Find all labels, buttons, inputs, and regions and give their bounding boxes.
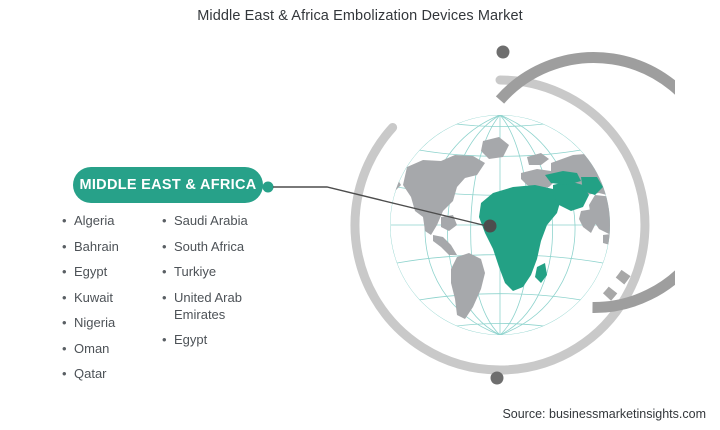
country-name: Algeria — [74, 212, 114, 229]
country-name: Egypt — [174, 331, 207, 348]
list-item: • Turkiye — [162, 263, 292, 280]
country-list: • Algeria • Bahrain • Egypt • Kuwait • N… — [62, 212, 352, 391]
list-item: • Nigeria — [62, 314, 162, 331]
bullet-icon: • — [62, 238, 74, 255]
list-item: • Egypt — [62, 263, 162, 280]
list-item: • South Africa — [162, 238, 292, 255]
list-item: • Algeria — [62, 212, 162, 229]
globe-top-marker-icon — [497, 46, 510, 59]
bullet-icon: • — [62, 289, 74, 306]
country-name: Turkiye — [174, 263, 216, 280]
country-name: Saudi Arabia — [174, 212, 248, 229]
bullet-icon: • — [62, 314, 74, 331]
country-list-column-2: • Saudi Arabia • South Africa • Turkiye … — [162, 212, 292, 391]
market-region-infographic: Middle East & Africa Embolization Device… — [0, 0, 720, 430]
bullet-icon: • — [162, 331, 174, 348]
bullet-icon: • — [62, 212, 74, 229]
country-name: Qatar — [74, 365, 107, 382]
country-name: Egypt — [74, 263, 107, 280]
country-list-column-1: • Algeria • Bahrain • Egypt • Kuwait • N… — [62, 212, 162, 391]
list-item: • Saudi Arabia — [162, 212, 292, 229]
list-item: • Qatar — [62, 365, 162, 382]
country-name: South Africa — [174, 238, 244, 255]
list-item: • Egypt — [162, 331, 292, 348]
region-badge[interactable]: MIDDLE EAST & AFRICA — [73, 167, 263, 203]
country-name: United Arab Emirates — [174, 289, 292, 323]
page-title: Middle East & Africa Embolization Device… — [0, 8, 720, 24]
bullet-icon: • — [162, 238, 174, 255]
region-badge-label: MIDDLE EAST & AFRICA — [79, 177, 256, 193]
country-name: Bahrain — [74, 238, 119, 255]
list-item: • Oman — [62, 340, 162, 357]
list-item: • Bahrain — [62, 238, 162, 255]
source-attribution: Source: businessmarketinsights.com — [502, 407, 706, 421]
list-item: • United Arab Emirates — [162, 289, 292, 323]
country-name: Kuwait — [74, 289, 113, 306]
globe-bottom-marker-icon — [491, 372, 504, 385]
bullet-icon: • — [62, 365, 74, 382]
country-name: Nigeria — [74, 314, 115, 331]
bullet-icon: • — [162, 263, 174, 280]
connector-start-dot-icon — [263, 182, 274, 193]
country-name: Oman — [74, 340, 109, 357]
bullet-icon: • — [62, 340, 74, 357]
bullet-icon: • — [62, 263, 74, 280]
bullet-icon: • — [162, 212, 174, 229]
bullet-icon: • — [162, 289, 174, 306]
list-item: • Kuwait — [62, 289, 162, 306]
